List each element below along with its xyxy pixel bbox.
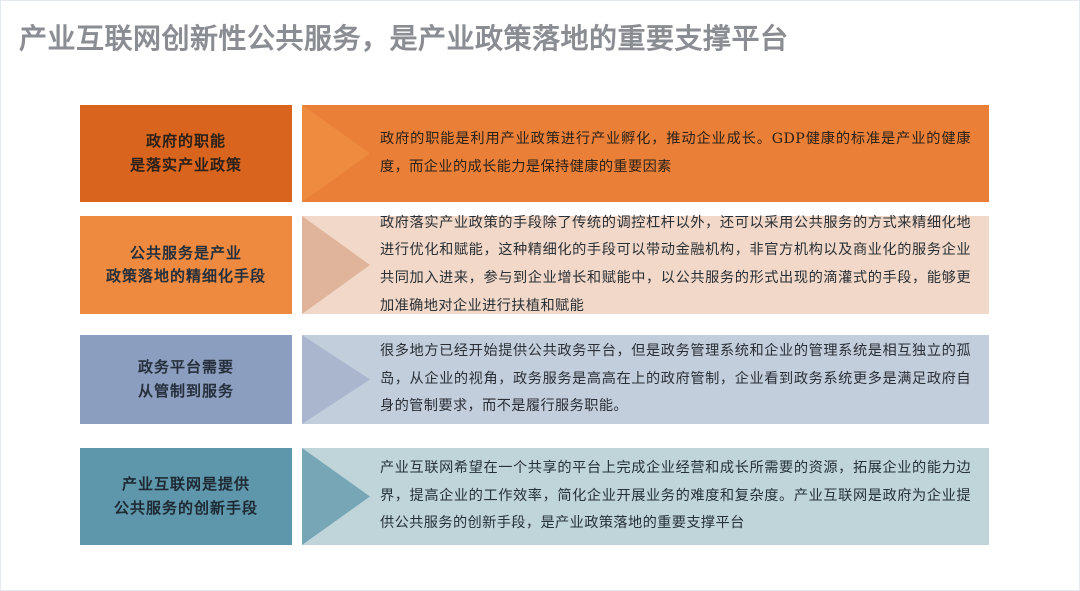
row-body-text: 产业互联网希望在一个共享的平台上完成企业经营和成长所需要的资源，拓展企业的能力边…: [380, 455, 971, 538]
process-row: 产业互联网是提供 公共服务的创新手段 产业互联网希望在一个共享的平台上完成企业经…: [80, 448, 989, 545]
process-row: 政务平台需要 从管制到服务 很多地方已经开始提供公共政务平台，但是政务管理系统和…: [80, 335, 989, 424]
row-body-text: 政府的职能是利用产业政策进行产业孵化，推动企业成长。GDP健康的标准是产业的健康…: [380, 126, 971, 181]
row-body-text: 政府落实产业政策的手段除了传统的调控杠杆以外，还可以采用公共服务的方式来精细化地…: [380, 210, 971, 321]
row-label-text: 产业互联网是提供 公共服务的创新手段: [114, 473, 258, 520]
row-body-text-wrap: 政府的职能是利用产业政策进行产业孵化，推动企业成长。GDP健康的标准是产业的健康…: [380, 105, 971, 202]
row-gap-spacer: [292, 105, 302, 202]
process-row-list: 政府的职能 是落实产业政策 政府的职能是利用产业政策进行产业孵化，推动企业成长。…: [1, 1, 1080, 591]
slide-canvas: 产业互联网创新性公共服务，是产业政策落地的重要支撑平台 政府的职能 是落实产业政…: [0, 0, 1080, 591]
row-label-block[interactable]: 产业互联网是提供 公共服务的创新手段: [80, 448, 292, 545]
row-label-text: 政务平台需要 从管制到服务: [138, 356, 234, 403]
arrow-head-icon: [302, 105, 370, 202]
row-body-text-wrap: 很多地方已经开始提供公共政务平台，但是政务管理系统和企业的管理系统是相互独立的孤…: [380, 335, 971, 424]
process-row: 公共服务是产业 政策落地的精细化手段 政府落实产业政策的手段除了传统的调控杠杆以…: [80, 216, 989, 314]
row-gap-spacer: [292, 335, 302, 424]
row-body-text: 很多地方已经开始提供公共政务平台，但是政务管理系统和企业的管理系统是相互独立的孤…: [380, 338, 971, 421]
row-body-text-wrap: 产业互联网希望在一个共享的平台上完成企业经营和成长所需要的资源，拓展企业的能力边…: [380, 448, 971, 545]
arrow-head-icon: [302, 448, 370, 545]
arrow-head-icon: [302, 335, 370, 424]
row-label-block[interactable]: 公共服务是产业 政策落地的精细化手段: [80, 216, 292, 314]
row-label-text: 政府的职能 是落实产业政策: [130, 130, 242, 177]
row-label-block[interactable]: 政府的职能 是落实产业政策: [80, 105, 292, 202]
row-label-block[interactable]: 政务平台需要 从管制到服务: [80, 335, 292, 424]
row-gap-spacer: [292, 448, 302, 545]
process-row: 政府的职能 是落实产业政策 政府的职能是利用产业政策进行产业孵化，推动企业成长。…: [80, 105, 989, 202]
row-label-text: 公共服务是产业 政策落地的精细化手段: [106, 242, 266, 289]
row-gap-spacer: [292, 216, 302, 314]
arrow-head-icon: [302, 216, 370, 314]
row-body-text-wrap: 政府落实产业政策的手段除了传统的调控杠杆以外，还可以采用公共服务的方式来精细化地…: [380, 216, 971, 314]
